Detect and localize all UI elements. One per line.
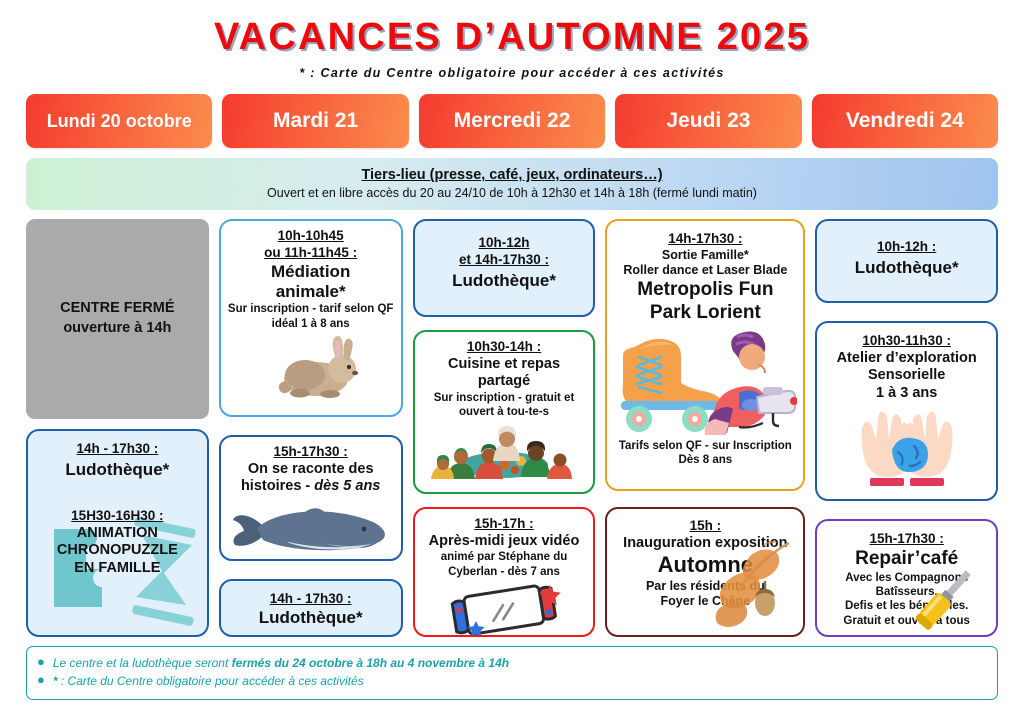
footer-line-2: ● * : Carte du Centre obligatoire pour a… — [37, 672, 987, 691]
rabbit-icon — [256, 333, 366, 399]
card-mardi-ludotheque[interactable]: 14h - 17h30 : Ludothèque* — [219, 579, 403, 637]
cuisine-name-1: Cuisine et repas — [421, 356, 588, 373]
stories-age: dès 5 ans — [314, 478, 380, 494]
card-cuisine-repas[interactable]: 10h30-14h : Cuisine et repas partagé Sur… — [413, 330, 596, 494]
day-header-lundi[interactable]: Lundi 20 octobre — [26, 94, 212, 148]
footer-line-1-text: Le centre et la ludothèque seront fermés… — [53, 654, 509, 673]
video-note-2: Cyberlan - dès 7 ans — [421, 565, 588, 579]
sensorielle-time: 10h30-11h30 : — [823, 333, 990, 350]
card-inauguration-expo[interactable]: 15h : Inauguration exposition Automne Pa… — [605, 507, 805, 637]
footer-notes: ● Le centre et la ludothèque seront ferm… — [26, 646, 998, 700]
stories-time: 15h-17h30 : — [227, 444, 395, 461]
column-lundi: CENTRE FERMÉ ouverture à 14h 14h - 17h30… — [26, 219, 209, 637]
poster-root: VACANCES D’AUTOMNE 2025 * : Carte du Cen… — [0, 0, 1024, 724]
mediation-name-1: Médiation — [227, 262, 395, 282]
page-title: VACANCES D’AUTOMNE 2025 — [0, 18, 1024, 58]
video-name: Après-midi jeux vidéo — [421, 533, 588, 550]
cuisine-time: 10h30-14h : — [421, 339, 588, 356]
card-lundi-ludotheque[interactable]: 14h - 17h30 : Ludothèque* 15H30-16H30 : — [26, 429, 209, 637]
bullet-icon-2: ● — [37, 672, 45, 688]
repair-time: 15h-17h30 : — [823, 531, 990, 548]
tierslieu-hours: Ouvert et en libre accès du 20 au 24/10 … — [267, 186, 757, 200]
centre-ferme-line1: CENTRE FERMÉ — [60, 299, 174, 319]
mercredi-ludo-time-2: et 14h-17h30 : — [421, 252, 588, 269]
card-jeux-video[interactable]: 15h-17h : Après-midi jeux vidéo animé pa… — [413, 507, 596, 637]
column-mercredi: 10h-12h et 14h-17h30 : Ludothèque* 10h30… — [413, 219, 596, 637]
screwdriver-icon — [898, 563, 994, 637]
mediation-time-2: ou 11h-11h45 : — [227, 245, 395, 262]
sortie-name-1: Metropolis Fun — [613, 279, 797, 302]
sortie-note-2: Dès 8 ans — [613, 453, 797, 467]
sortie-name-2: Park Lorient — [613, 302, 797, 325]
tierslieu-title: Tiers-lieu (presse, café, jeux, ordinate… — [361, 167, 662, 183]
lundi-anim-time: 15H30-16H30 : — [34, 508, 201, 525]
column-vendredi: 10h-12h : Ludothèque* 10h30-11h30 : Atel… — [815, 219, 998, 637]
game-console-icon — [440, 581, 568, 637]
tierslieu-banner: Tiers-lieu (presse, café, jeux, ordinate… — [26, 158, 998, 210]
lundi-ludo-time: 14h - 17h30 : — [34, 441, 201, 458]
mediation-note-2: idéal 1 à 8 ans — [227, 317, 395, 331]
page-subtitle: * : Carte du Centre obligatoire pour acc… — [0, 66, 1024, 80]
sortie-time: 14h-17h30 : — [613, 231, 797, 248]
roller-skate-laser-icon — [613, 327, 797, 435]
mercredi-ludo-name: Ludothèque* — [421, 271, 588, 291]
title-block: VACANCES D’AUTOMNE 2025 * : Carte du Cen… — [0, 0, 1024, 80]
sensorielle-name-2: Sensorielle — [823, 367, 990, 384]
card-mediation-animale[interactable]: 10h-10h45 ou 11h-11h45 : Médiation anima… — [219, 219, 403, 417]
day-header-row: Lundi 20 octobre Mardi 21 Mercredi 22 Je… — [0, 94, 1024, 148]
centre-ferme-line2: ouverture à 14h — [63, 319, 171, 339]
vendredi-ludo-name: Ludothèque* — [823, 258, 990, 278]
whale-icon — [227, 498, 395, 556]
cuisine-note-2: ouvert à tou-te-s — [421, 405, 588, 419]
day-header-mardi[interactable]: Mardi 21 — [222, 94, 408, 148]
lundi-ludo-name: Ludothèque* — [34, 460, 201, 480]
sensorielle-note: 1 à 3 ans — [823, 385, 990, 402]
footer-line-1: ● Le centre et la ludothèque seront ferm… — [37, 654, 987, 673]
shared-meal-icon — [429, 421, 579, 479]
bullet-icon: ● — [37, 654, 45, 670]
card-centre-ferme: CENTRE FERMÉ ouverture à 14h — [26, 219, 209, 419]
day-header-mercredi[interactable]: Mercredi 22 — [419, 94, 605, 148]
card-exploration-sensorielle[interactable]: 10h30-11h30 : Atelier d’exploration Sens… — [815, 321, 998, 501]
mediation-name-2: animale* — [227, 282, 395, 302]
card-vendredi-ludotheque[interactable]: 10h-12h : Ludothèque* — [815, 219, 998, 303]
footer-line-2-text: * : Carte du Centre obligatoire pour acc… — [53, 672, 364, 691]
hands-sensory-icon — [832, 404, 982, 486]
video-note-1: animé par Stéphane du — [421, 550, 588, 564]
autumn-leaves-icon — [693, 525, 803, 637]
day-header-vendredi[interactable]: Vendredi 24 — [812, 94, 998, 148]
stories-name-2: histoires - dès 5 ans — [227, 478, 395, 495]
card-on-se-raconte[interactable]: 15h-17h30 : On se raconte des histoires … — [219, 435, 403, 561]
activity-grid: CENTRE FERMÉ ouverture à 14h 14h - 17h30… — [0, 219, 1024, 637]
cuisine-name-2: partagé — [421, 373, 588, 390]
card-sortie-famille[interactable]: 14h-17h30 : Sortie Famille* Roller dance… — [605, 219, 805, 491]
stories-name-1: On se raconte des — [227, 461, 395, 478]
mercredi-ludo-time-1: 10h-12h — [421, 235, 588, 252]
card-repair-cafe[interactable]: 15h-17h30 : Repair’café Avec les Compagn… — [815, 519, 998, 637]
cuisine-note-1: Sur inscription - gratuit et — [421, 391, 588, 405]
mediation-time-1: 10h-10h45 — [227, 228, 395, 245]
column-jeudi: 14h-17h30 : Sortie Famille* Roller dance… — [605, 219, 805, 637]
lundi-anim-line3: EN FAMILLE — [34, 560, 201, 577]
footer-closed-dates: fermés du 24 octobre à 18h au 4 novembre… — [232, 656, 509, 670]
lundi-anim-line1: ANIMATION — [34, 525, 201, 542]
card-mercredi-ludotheque[interactable]: 10h-12h et 14h-17h30 : Ludothèque* — [413, 219, 596, 317]
sensorielle-name-1: Atelier d’exploration — [823, 350, 990, 367]
mediation-note-1: Sur inscription - tarif selon QF — [227, 302, 395, 316]
mardi-ludo-name: Ludothèque* — [227, 608, 395, 628]
sortie-sub-1: Sortie Famille* — [613, 248, 797, 264]
column-mardi: 10h-10h45 ou 11h-11h45 : Médiation anima… — [219, 219, 403, 637]
mardi-ludo-time: 14h - 17h30 : — [227, 591, 395, 608]
lundi-anim-line2: CHRONOPUZZLE — [34, 542, 201, 559]
vendredi-ludo-time: 10h-12h : — [823, 239, 990, 256]
sortie-note-1: Tarifs selon QF - sur Inscription — [613, 439, 797, 453]
sortie-sub-2: Roller dance et Laser Blade — [613, 263, 797, 279]
video-time: 15h-17h : — [421, 516, 588, 533]
day-header-jeudi[interactable]: Jeudi 23 — [615, 94, 801, 148]
